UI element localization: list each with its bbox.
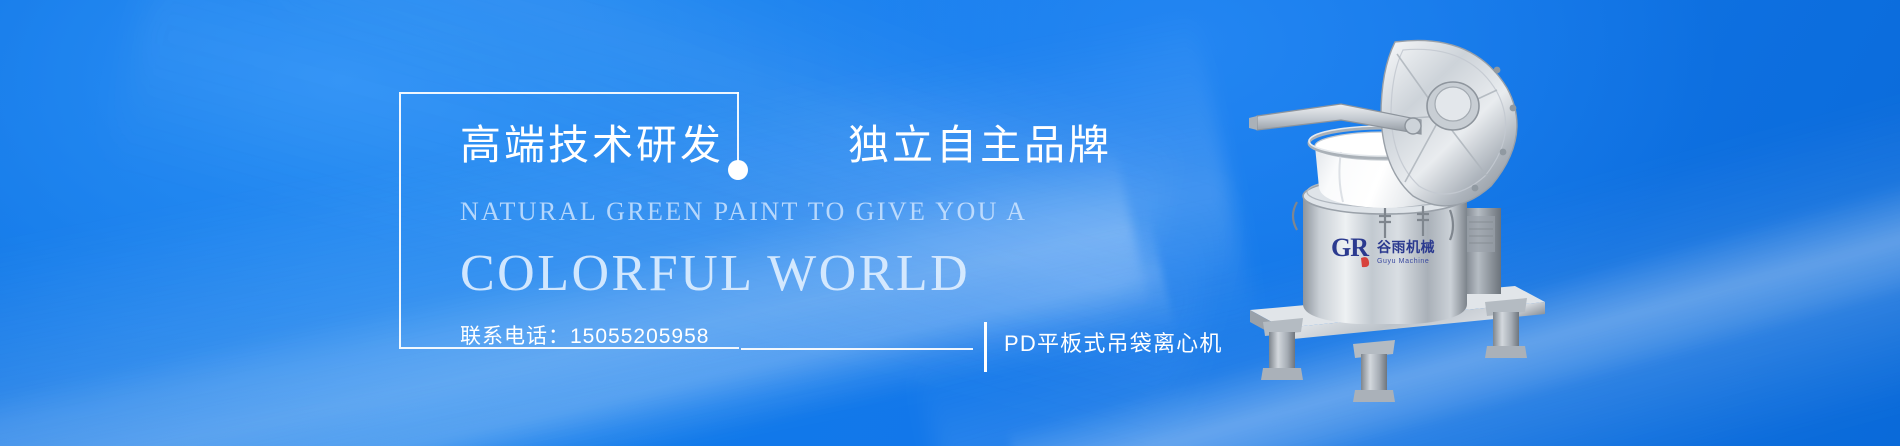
banner-copy-block: 高端技术研发 独立自主品牌 NATURAL GREEN PAINT TO GIV… <box>460 125 1160 347</box>
machine-control-box <box>1463 208 1501 294</box>
tagline-english: COLORFUL WORLD <box>460 248 1160 300</box>
product-image-centrifuge: GR 谷雨机械 Guyu Machine <box>1245 10 1675 446</box>
headline-right: 独立自主品牌 <box>848 125 1112 166</box>
subtitle-english: NATURAL GREEN PAINT TO GIVE YOU A <box>460 199 1160 225</box>
svg-text:Guyu Machine: Guyu Machine <box>1377 258 1429 265</box>
promo-banner: 高端技术研发 独立自主品牌 NATURAL GREEN PAINT TO GIV… <box>0 0 1900 446</box>
caption-connector-horizontal-line <box>741 348 973 350</box>
caption-connector-vertical-bar <box>984 322 987 372</box>
headline-row: 高端技术研发 独立自主品牌 <box>460 125 1160 166</box>
headline-left: 高端技术研发 <box>460 125 724 166</box>
product-caption: PD平板式吊袋离心机 <box>1004 333 1223 355</box>
svg-text:谷雨机械: 谷雨机械 <box>1377 239 1435 255</box>
